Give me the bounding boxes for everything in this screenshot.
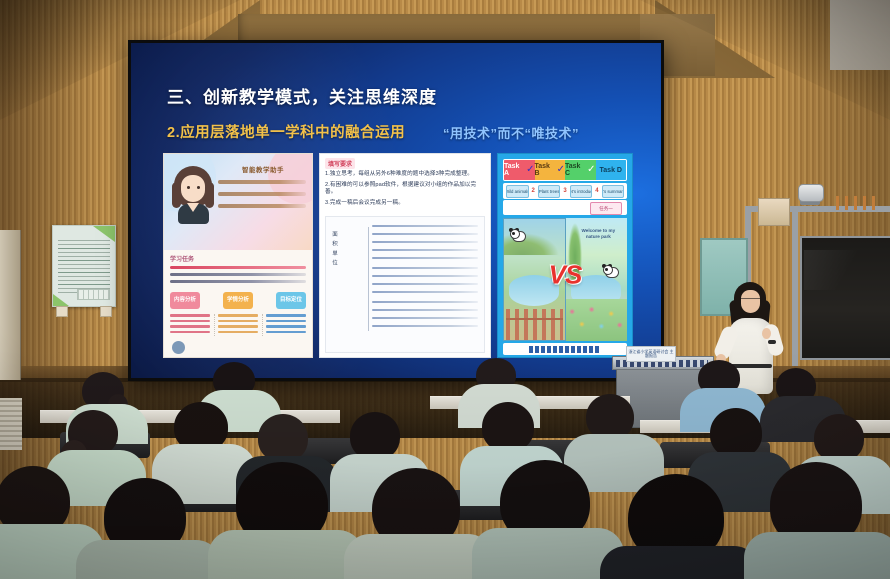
presenter-glasses-icon <box>741 298 760 304</box>
panel-left-mid-line-3 <box>170 280 306 283</box>
slide-note: “用技术”而不“唯技术” <box>443 123 579 142</box>
task-c[interactable]: Task C ✓ <box>565 160 596 180</box>
audience <box>0 374 890 579</box>
task-b-label: Task B <box>535 163 555 177</box>
chip-num-2: 3 <box>563 188 566 194</box>
slide-panel-left: 智能教学助手 学习任务 内容分析 学情分析 目标定位 <box>163 153 313 358</box>
panel-left-badges: 内容分析 学情分析 目标定位 <box>170 292 306 309</box>
panel-left-logo-dot <box>172 341 185 354</box>
slide-subtitle: 2.应用层落地单一学科中的融合运用 <box>167 121 405 142</box>
panel-left-columns <box>170 314 306 336</box>
panel-middle-rule-3: 3.完成一稿后会议完成另一稿。 <box>325 200 485 207</box>
door-left[interactable] <box>0 230 21 380</box>
panda-icon <box>510 229 526 241</box>
panel-left-mid: 学习任务 <box>170 254 306 287</box>
slide-title: 三、创新教学模式，关注思维深度 <box>167 83 437 108</box>
flower-field <box>566 299 627 341</box>
chip-num-3: 4 <box>595 188 598 194</box>
panel-right-footer-text <box>529 346 601 353</box>
panel-left-heading: 智能教学助手 <box>220 164 306 174</box>
equipment-frame-post-mid <box>792 206 798 366</box>
panel-left-column-3 <box>262 314 306 336</box>
panel-middle-rule-2: 2.有困难的可以参照pad软件，根据建议对小组的作品加以完善。 <box>325 182 485 196</box>
task-a[interactable]: Task A ✓ <box>504 160 535 180</box>
badge-goal-setting: 目标定位 <box>276 292 306 309</box>
chip-num-1: 2 <box>532 188 535 194</box>
chip-row: Wild animals 2 Plant trees 3 Let's intro… <box>503 183 627 199</box>
avatar <box>172 166 214 224</box>
podium-sign: 浙江省小学英语研讨会 主题报告 <box>626 346 676 362</box>
panel-left-rule-lines <box>218 180 306 216</box>
ptz-camera-icon <box>798 184 824 202</box>
task-one-box: 任务一 <box>590 202 622 215</box>
lecture-hall-scene: 三、创新教学模式，关注思维深度 2.应用层落地单一学科中的融合运用 “用技术”而… <box>0 0 890 579</box>
check-icon: ✓ <box>587 165 595 175</box>
worksheet-vertical-label: 面积单位 <box>329 231 338 269</box>
panel-middle-rules: 1.独立思考，每组从另外6种难度的题中选择3种完成整理。 2.有困难的可以参照p… <box>325 171 485 211</box>
comparison-stage: Welcome to my nature park VS <box>503 218 627 341</box>
presentation-screen[interactable]: 三、创新教学模式，关注思维深度 2.应用层落地单一学科中的融合运用 “用技术”而… <box>131 43 661 378</box>
led-screen-frame: 三、创新教学模式，关注思维深度 2.应用层落地单一学科中的融合运用 “用技术”而… <box>128 40 664 381</box>
panel-middle-worksheet: 面积单位 <box>325 216 485 353</box>
presenter-hand-right <box>762 328 771 339</box>
slide-panel-middle: 填写要求 1.独立思考，每组从另外6种难度的题中选择3种完成整理。 2.有困难的… <box>319 153 491 358</box>
poster-table <box>77 289 110 300</box>
fence <box>506 309 562 340</box>
panel-right-footer <box>503 343 627 355</box>
avatar-hair-right <box>205 182 214 208</box>
wall-hooks <box>836 196 880 210</box>
chip-plant-trees[interactable]: Plant trees <box>538 185 561 198</box>
chip-lets-introduce[interactable]: Let's introduce <box>570 185 593 198</box>
slide-panels: 智能教学助手 学习任务 内容分析 学情分析 目标定位 <box>163 153 633 358</box>
panel-middle-heading: 填写要求 <box>325 158 355 169</box>
avatar-eye-left <box>187 186 190 189</box>
picture-after-caption: Welcome to my nature park <box>575 228 623 239</box>
task-a-label: Task A <box>504 163 524 177</box>
task-d[interactable]: Task D <box>596 160 627 180</box>
task-d-label: Task D <box>600 167 622 174</box>
panel-left-mid-label: 学习任务 <box>170 254 306 263</box>
panel-left-mid-line-1 <box>170 266 306 269</box>
avatar-hair-left <box>172 182 181 208</box>
badge-content-analysis: 内容分析 <box>170 292 200 309</box>
slide-panel-right: Task A ✓ Task B ✓ Task C ✓ Task D <box>497 153 633 358</box>
check-icon: ✓ <box>526 165 534 175</box>
task-bar: Task A ✓ Task B ✓ Task C ✓ Task D <box>503 159 627 181</box>
panel-left-column-2 <box>214 314 258 336</box>
vs-badge: VS <box>549 259 582 290</box>
worksheet-mindmap <box>342 223 480 348</box>
poster-mounts <box>56 306 112 315</box>
avatar-face <box>181 175 205 202</box>
task-c-label: Task C <box>565 163 585 177</box>
panda-icon <box>603 265 619 277</box>
panel-left-column-1 <box>170 314 210 336</box>
check-icon: ✓ <box>557 165 565 175</box>
chip-lets-summarize[interactable]: Let's summarize <box>602 185 625 198</box>
presenter-watch <box>768 340 776 344</box>
panel-left-mid-line-2 <box>170 273 306 276</box>
avatar-eye-right <box>197 186 200 189</box>
wall-cabinet <box>758 198 790 226</box>
wall-poster <box>52 225 116 307</box>
task-b[interactable]: Task B ✓ <box>535 160 566 180</box>
blackboard-sheen <box>804 250 874 290</box>
panel-middle-rule-1: 1.独立思考，每组从另外6种难度的题中选择3种完成整理。 <box>325 171 485 178</box>
poster-text-lines <box>58 240 110 296</box>
badge-learner-analysis: 学情分析 <box>223 292 253 309</box>
chip-wild-animals[interactable]: Wild animals <box>506 185 529 198</box>
